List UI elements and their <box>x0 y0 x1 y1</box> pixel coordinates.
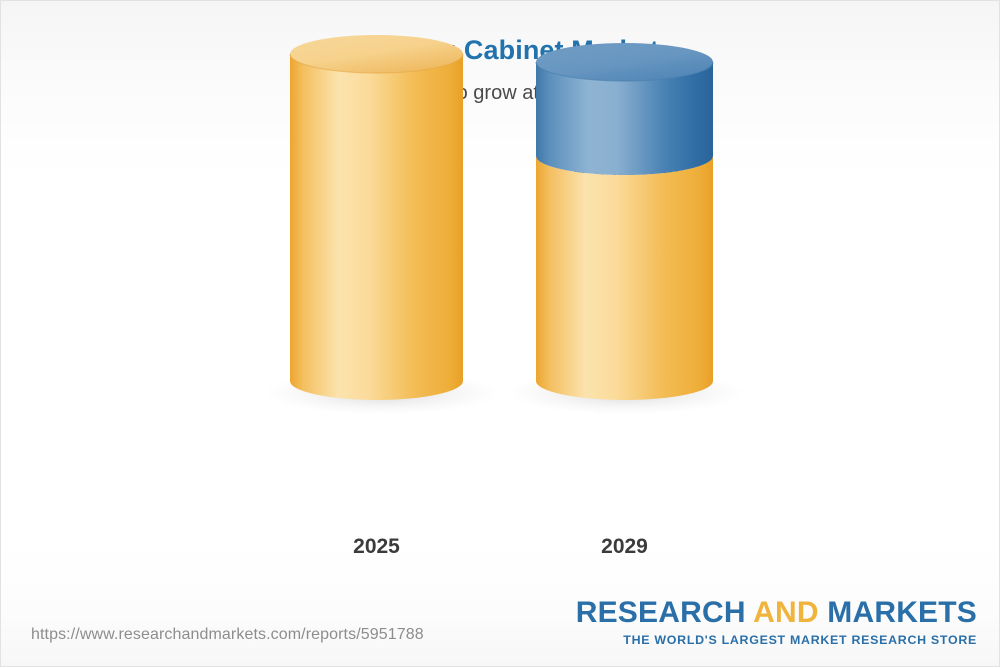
brand-logo[interactable]: RESEARCH AND MARKETS THE WORLD'S LARGEST… <box>576 598 977 646</box>
brand-logo-and: AND <box>753 596 819 629</box>
cylinder-base-segment-2029 <box>536 156 713 400</box>
cylinder-2025[interactable] <box>290 43 463 513</box>
category-label-2025: 2025 <box>353 535 400 559</box>
category-label-2029: 2029 <box>601 535 648 559</box>
cylinder-body-2025 <box>290 54 463 400</box>
bar-group-2025: USD 1.76 Billion <box>290 1 463 668</box>
brand-logo-research: RESEARCH <box>576 596 753 629</box>
brand-logo-wordmark: RESEARCH AND MARKETS <box>576 598 977 628</box>
cylinder-2029[interactable] <box>536 43 713 513</box>
bar-group-2029: USD 2.07 Billion <box>536 1 713 668</box>
chart-plot-area: USD 1.76 Billion <box>1 1 1000 668</box>
brand-logo-tagline: THE WORLD'S LARGEST MARKET RESEARCH STOR… <box>576 628 977 646</box>
infographic-card: Warming Cabinet Market Market forecast t… <box>0 0 1000 667</box>
brand-logo-markets: MARKETS <box>819 596 977 629</box>
report-url[interactable]: https://www.researchandmarkets.com/repor… <box>31 626 424 644</box>
